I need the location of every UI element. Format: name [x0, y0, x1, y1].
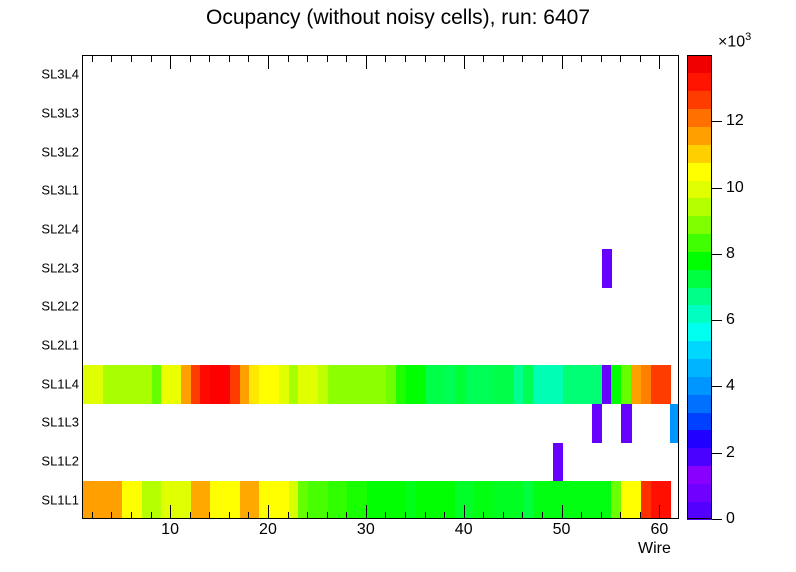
y-axis-labels: SL1L1SL1L2SL1L3SL1L4SL2L1SL2L2SL2L3SL2L4…	[0, 0, 79, 572]
x-tick-minor	[503, 512, 504, 518]
root-canvas: Ocupancy (without noisy cells), run: 640…	[0, 0, 796, 572]
palette-segment	[687, 358, 712, 376]
x-axis-tick-label: 30	[357, 521, 375, 539]
x-tick-top	[170, 56, 171, 69]
x-tick-major	[170, 505, 171, 518]
x-tick-top	[151, 56, 152, 62]
palette-segment	[687, 269, 712, 287]
x-tick-minor	[542, 512, 543, 518]
palette-segment	[687, 323, 712, 341]
palette-tick-label: 12	[726, 112, 744, 130]
x-axis-tick-label: 50	[553, 521, 571, 539]
x-tick-minor	[522, 512, 523, 518]
x-tick-minor	[601, 512, 602, 518]
x-tick-top	[268, 56, 269, 69]
x-tick-top	[307, 56, 308, 62]
x-tick-minor	[581, 512, 582, 518]
y-axis-label-sl3l3: SL3L3	[41, 106, 79, 121]
y-axis-label-sl2l4: SL2L4	[41, 222, 79, 237]
x-tick-minor	[92, 512, 93, 518]
y-axis-label-sl1l1: SL1L1	[41, 492, 79, 507]
x-tick-top	[542, 56, 543, 62]
heatmap-cell	[553, 443, 563, 482]
heatmap-cell	[602, 249, 612, 288]
palette-segment	[687, 162, 712, 180]
x-tick-minor	[151, 512, 152, 518]
palette-segment	[687, 109, 712, 127]
palette-segment	[687, 501, 712, 519]
palette-tick	[712, 320, 722, 321]
x-tick-top	[405, 56, 406, 62]
palette-segment	[687, 412, 712, 430]
y-axis-label-sl2l1: SL2L1	[41, 338, 79, 353]
x-tick-major	[659, 505, 660, 518]
x-tick-minor	[620, 512, 621, 518]
x-tick-minor	[444, 512, 445, 518]
palette-segment	[687, 394, 712, 412]
x-tick-top	[92, 56, 93, 62]
x-tick-minor	[209, 512, 210, 518]
palette-segment	[687, 341, 712, 359]
x-tick-top	[444, 56, 445, 62]
x-tick-top	[562, 56, 563, 69]
x-tick-minor	[425, 512, 426, 518]
y-axis-label-sl3l4: SL3L4	[41, 67, 79, 82]
x-tick-major	[366, 505, 367, 518]
heatmap-cell	[660, 365, 670, 404]
x-tick-minor	[346, 512, 347, 518]
y-axis-label-sl3l1: SL3L1	[41, 183, 79, 198]
x-axis-tick-label: 40	[455, 521, 473, 539]
palette-exponent-mantissa: ×10	[718, 33, 745, 50]
palette-segment	[687, 180, 712, 198]
x-tick-minor	[640, 512, 641, 518]
x-tick-top	[229, 56, 230, 62]
palette-tick-label: 0	[726, 510, 735, 528]
heatmap-cell	[621, 404, 631, 443]
x-tick-top	[640, 56, 641, 62]
x-tick-minor	[288, 512, 289, 518]
palette-tick	[712, 254, 722, 255]
palette-tick	[712, 188, 722, 189]
palette-segment	[687, 287, 712, 305]
x-tick-top	[601, 56, 602, 62]
x-tick-top	[464, 56, 465, 69]
x-tick-top	[327, 56, 328, 62]
x-tick-minor	[111, 512, 112, 518]
palette-segment	[687, 55, 712, 73]
x-tick-major	[562, 505, 563, 518]
x-tick-minor	[385, 512, 386, 518]
color-palette-bar	[687, 55, 712, 519]
x-tick-minor	[307, 512, 308, 518]
palette-segment	[687, 126, 712, 144]
x-tick-minor	[483, 512, 484, 518]
x-tick-top	[581, 56, 582, 62]
x-tick-top	[659, 56, 660, 69]
y-axis-label-sl1l4: SL1L4	[41, 376, 79, 391]
x-tick-top	[385, 56, 386, 62]
x-tick-top	[111, 56, 112, 62]
palette-tick-label: 8	[726, 245, 735, 263]
y-axis-label-sl1l3: SL1L3	[41, 415, 79, 430]
palette-tick-label: 6	[726, 311, 735, 329]
x-tick-minor	[190, 512, 191, 518]
palette-tick-label: 4	[726, 377, 735, 395]
x-tick-top	[425, 56, 426, 62]
x-tick-top	[522, 56, 523, 62]
x-tick-minor	[229, 512, 230, 518]
x-tick-top	[209, 56, 210, 62]
palette-segment	[687, 198, 712, 216]
palette-exponent-power: 3	[745, 31, 751, 43]
palette-segment	[687, 430, 712, 448]
palette-tick-label: 2	[726, 444, 735, 462]
palette-tick	[712, 453, 722, 454]
y-axis-label-sl2l2: SL2L2	[41, 299, 79, 314]
heatmap-cell	[660, 481, 670, 518]
palette-segment	[687, 91, 712, 109]
x-axis-tick-label: 20	[259, 521, 277, 539]
palette-tick	[712, 519, 722, 520]
palette-segment	[687, 483, 712, 501]
page-title: Ocupancy (without noisy cells), run: 640…	[0, 6, 796, 30]
x-axis-tick-label: 10	[161, 521, 179, 539]
x-tick-major	[464, 505, 465, 518]
x-axis-tick-label: 60	[651, 521, 669, 539]
x-tick-top	[190, 56, 191, 62]
y-axis-label-sl3l2: SL3L2	[41, 144, 79, 159]
x-tick-top	[483, 56, 484, 62]
plot-frame	[82, 55, 679, 519]
heatmap-cell	[592, 404, 602, 443]
palette-tick	[712, 121, 722, 122]
x-tick-minor	[327, 512, 328, 518]
palette-segment	[687, 376, 712, 394]
heatmap-cell	[670, 404, 678, 443]
palette-segment	[687, 251, 712, 269]
palette-segment	[687, 305, 712, 323]
x-tick-major	[268, 505, 269, 518]
heatmap-cells	[83, 56, 678, 518]
x-tick-minor	[248, 512, 249, 518]
x-tick-minor	[405, 512, 406, 518]
palette-tick	[712, 386, 722, 387]
palette-segment	[687, 233, 712, 251]
x-tick-top	[248, 56, 249, 62]
x-tick-top	[131, 56, 132, 62]
x-tick-top	[346, 56, 347, 62]
palette-segment	[687, 144, 712, 162]
x-tick-top	[620, 56, 621, 62]
x-axis-title: Wire	[638, 540, 671, 558]
x-tick-minor	[131, 512, 132, 518]
y-axis-label-sl2l3: SL2L3	[41, 260, 79, 275]
palette-exponent-label: ×103	[718, 31, 751, 51]
palette-tick-label: 10	[726, 179, 744, 197]
palette-segment	[687, 448, 712, 466]
palette-segment	[687, 216, 712, 234]
y-axis-label-sl1l2: SL1L2	[41, 454, 79, 469]
x-tick-top	[288, 56, 289, 62]
palette-segment	[687, 73, 712, 91]
x-tick-top	[503, 56, 504, 62]
palette-segment	[687, 465, 712, 483]
x-tick-top	[366, 56, 367, 69]
